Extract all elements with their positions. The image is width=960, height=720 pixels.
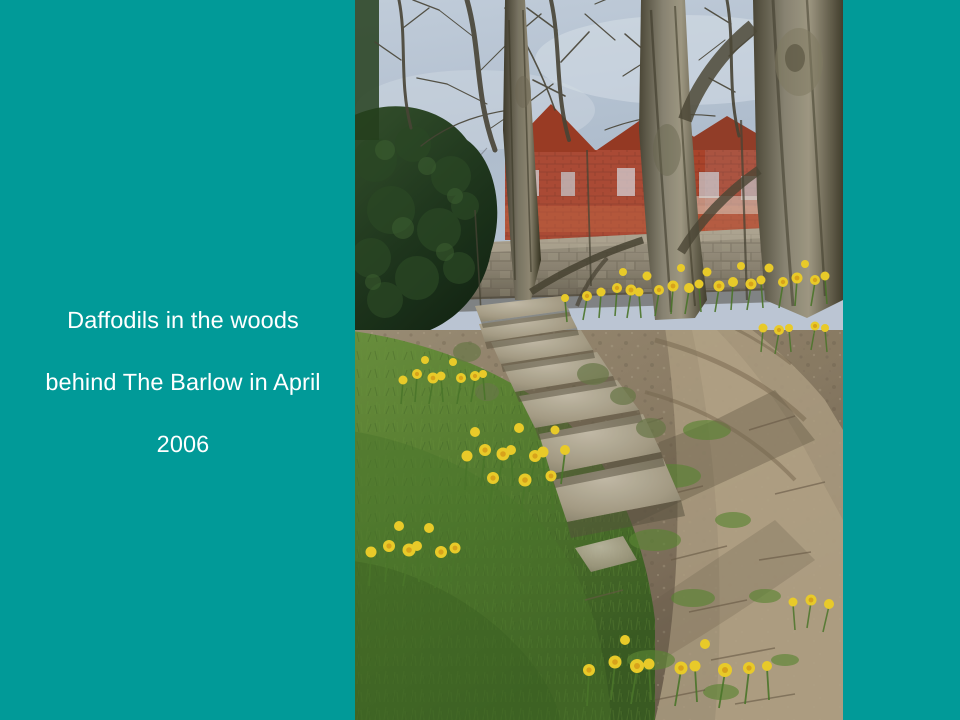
caption-line-2: behind The Barlow in April [45, 369, 320, 395]
presentation-slide: Daffodils in the woods behind The Barlow… [0, 0, 960, 720]
caption-line-1: Daffodils in the woods [67, 307, 299, 333]
slide-caption: Daffodils in the woods behind The Barlow… [18, 274, 348, 460]
caption-line-3: 2006 [157, 431, 210, 457]
daffodils-woodland-photograph [355, 0, 843, 720]
photo-artwork [355, 0, 843, 720]
